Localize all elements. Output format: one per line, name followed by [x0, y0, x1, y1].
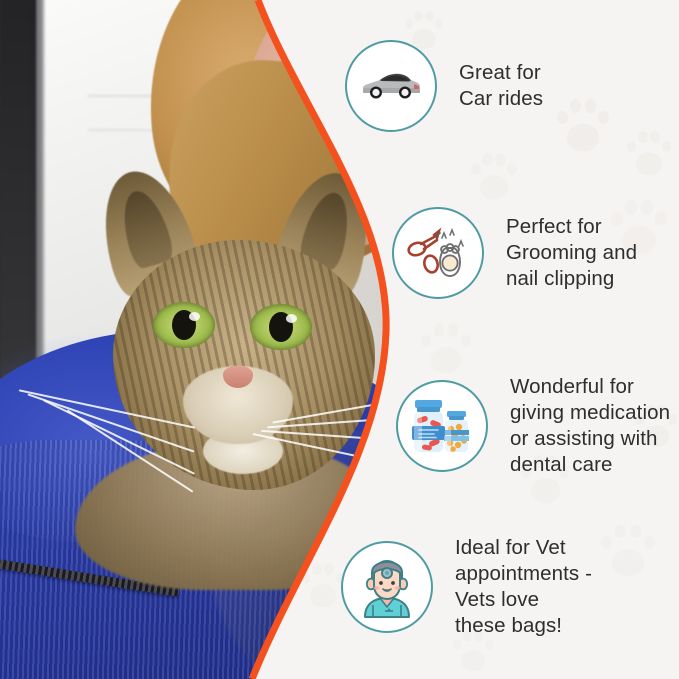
- feature-text: Ideal for Vet appointments - Vets love t…: [455, 535, 592, 639]
- product-feature-poster: Great for Car rides: [0, 0, 679, 679]
- nail-clippers-paw-icon: [406, 224, 470, 282]
- feature-badge: [396, 380, 488, 472]
- pill-bottles-icon: [409, 395, 475, 457]
- feature-item-vet-visit[interactable]: Ideal for Vet appointments - Vets love t…: [341, 535, 592, 639]
- feature-text: Perfect for Grooming and nail clipping: [506, 214, 637, 292]
- feature-item-medication[interactable]: Wonderful for giving medication or assis…: [396, 374, 670, 478]
- feature-item-car-rides[interactable]: Great for Car rides: [345, 40, 543, 132]
- feature-badge: [345, 40, 437, 132]
- feature-badge: [341, 541, 433, 633]
- car-icon: [360, 69, 422, 103]
- feature-item-grooming[interactable]: Perfect for Grooming and nail clipping: [392, 207, 637, 299]
- feature-text: Great for Car rides: [459, 60, 543, 112]
- feature-text: Wonderful for giving medication or assis…: [510, 374, 670, 478]
- feature-list: Great for Car rides: [0, 0, 679, 679]
- veterinarian-icon: [355, 555, 419, 619]
- feature-badge: [392, 207, 484, 299]
